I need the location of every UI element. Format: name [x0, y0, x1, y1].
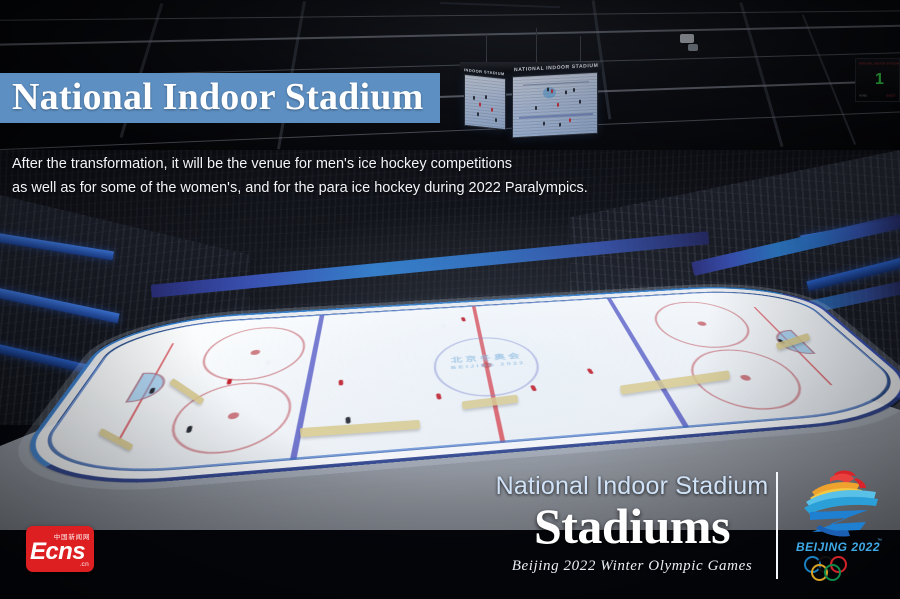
emblem-wordmark: BEIJING 2022 — [790, 540, 886, 554]
goal-crease-left — [125, 371, 172, 403]
scoreboard: NATIONAL INDOOR STADIUM 1 HOME GUEST — [855, 58, 900, 102]
player — [436, 393, 442, 400]
scoreboard-period: 1 — [875, 71, 884, 89]
player — [345, 417, 350, 424]
player — [461, 317, 466, 322]
subtitle-line-2: as well as for some of the women's, and … — [12, 176, 712, 200]
ecns-logo-tld: .cn — [79, 561, 89, 568]
player — [408, 386, 414, 392]
screenshot-root: 北京冬奥会 BEIJING 2022 — [0, 0, 900, 599]
player — [542, 375, 549, 381]
player — [530, 385, 537, 391]
brand-tagline: Beijing 2022 Winter Olympic Games — [482, 558, 782, 575]
scoreboard-guest-label: GUEST — [887, 94, 896, 97]
olympic-rings-icon — [804, 556, 872, 580]
scoreboard-top-label: NATIONAL INDOOR STADIUM — [859, 62, 899, 65]
emblem-ribbon-icon — [790, 466, 886, 544]
brand-block: National Indoor Stadium Stadiums Beijing… — [468, 468, 888, 588]
player — [586, 368, 594, 374]
brand-venue-name: National Indoor Stadium — [482, 472, 782, 501]
subtitle-block: After the transformation, it will be the… — [12, 152, 712, 200]
faceoff-circle-2 — [156, 379, 298, 458]
player — [441, 324, 446, 329]
player — [338, 380, 343, 386]
emblem-trademark: ™ — [877, 538, 882, 544]
jumbotron: INDOOR STADIUM NAT — [460, 62, 602, 146]
subtitle-line-1: After the transformation, it will be the… — [12, 152, 712, 176]
ice-rink: 北京冬奥会 BEIJING 2022 — [118, 248, 858, 478]
brand-series-name: Stadiums — [482, 498, 782, 554]
jumbotron-screen-left — [464, 74, 506, 130]
beijing-2022-emblem: BEIJING 2022 ™ — [790, 466, 886, 586]
ice-surface: 北京冬奥会 BEIJING 2022 — [16, 287, 900, 482]
jumbotron-screen-main — [512, 72, 598, 139]
ecns-watermark-logo: 中国新闻网 Ecns .cn — [26, 526, 94, 572]
brand-divider — [776, 472, 778, 579]
scoreboard-home-label: HOME — [859, 94, 867, 97]
olympic-ring-green — [824, 564, 841, 581]
player — [430, 406, 436, 413]
page-title: National Indoor Stadium — [12, 72, 423, 122]
